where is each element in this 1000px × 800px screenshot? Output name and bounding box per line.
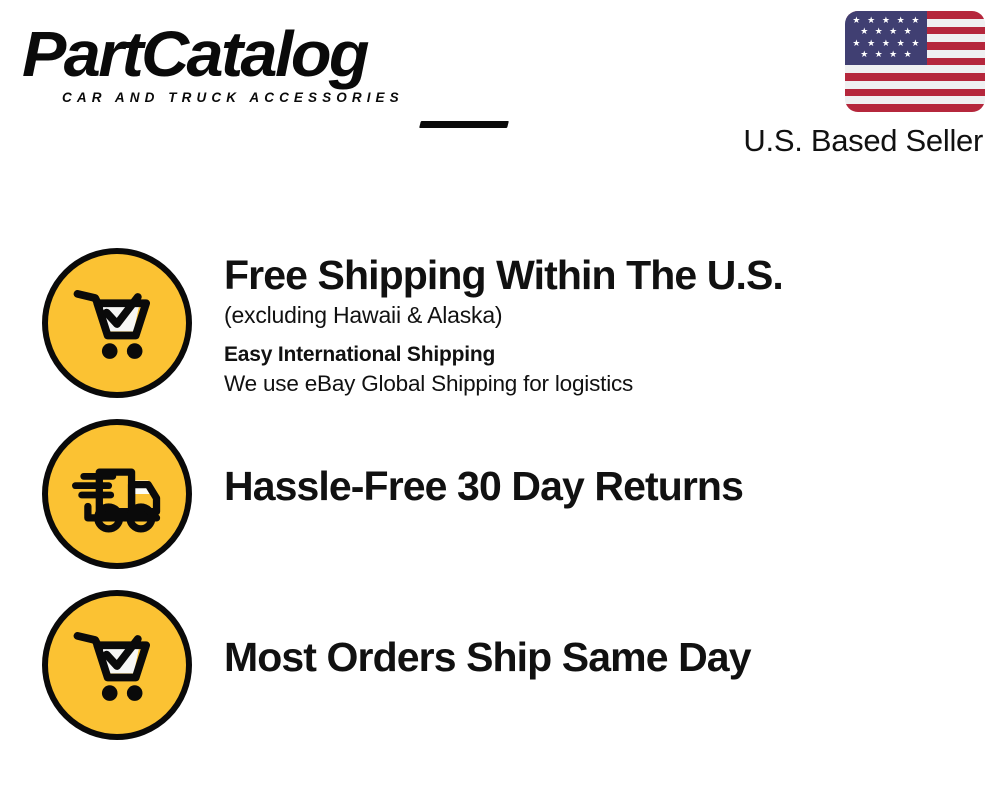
feature-text-block: Most Orders Ship Same Day [192, 590, 982, 681]
flag-star: ★ [860, 27, 868, 36]
feature-row: Most Orders Ship Same Day [42, 590, 982, 740]
us-flag-icon: ★ ★ ★ ★ ★ ★ ★ ★ ★ ★ ★ ★ [845, 11, 985, 112]
flag-star: ★ [867, 16, 875, 25]
brand-wordmark: PartCatalog [22, 22, 511, 86]
flag-star: ★ [852, 16, 860, 25]
flag-star: ★ [867, 39, 875, 48]
feature-row: Free Shipping Within The U.S. (excluding… [42, 248, 982, 399]
flag-star: ★ [897, 16, 905, 25]
flag-star: ★ [882, 16, 890, 25]
promo-banner: PartCatalog CAR AND TRUCK ACCESSORIES [0, 0, 1000, 800]
flag-canton: ★ ★ ★ ★ ★ ★ ★ ★ ★ ★ ★ ★ [845, 11, 927, 65]
feature-row: Hassle-Free 30 Day Returns [42, 419, 982, 569]
flag-star: ★ [852, 39, 860, 48]
feature-title: Free Shipping Within The U.S. [224, 252, 982, 299]
flag-star: ★ [882, 39, 890, 48]
flag-star: ★ [889, 27, 897, 36]
brand-tagline: CAR AND TRUCK ACCESSORIES [62, 90, 492, 106]
flag-star: ★ [889, 50, 897, 59]
brand-logo-swoosh [419, 121, 509, 128]
flag-star-row: ★ ★ ★ ★ ★ [845, 16, 927, 25]
feature-text-block: Free Shipping Within The U.S. (excluding… [192, 248, 982, 399]
flag-star: ★ [911, 16, 919, 25]
flag-star: ★ [911, 39, 919, 48]
flag-star: ★ [904, 27, 912, 36]
flag-star-row: ★ ★ ★ ★ ★ [845, 39, 927, 48]
flag-star: ★ [860, 50, 868, 59]
feature-subtitle: (excluding Hawaii & Alaska) [224, 300, 982, 330]
feature-title: Most Orders Ship Same Day [224, 634, 982, 681]
flag-star: ★ [904, 50, 912, 59]
flag-star-row: ★ ★ ★ ★ [845, 27, 927, 36]
feature-title: Hassle-Free 30 Day Returns [224, 463, 982, 510]
us-seller-badge: ★ ★ ★ ★ ★ ★ ★ ★ ★ ★ ★ ★ [685, 11, 985, 158]
flag-star-row: ★ ★ ★ ★ [845, 50, 927, 59]
flag-star: ★ [875, 50, 883, 59]
flag-star: ★ [897, 39, 905, 48]
feature-text-block: Hassle-Free 30 Day Returns [192, 419, 982, 510]
delivery-truck-icon [42, 419, 192, 569]
feature-detail-text: We use eBay Global Shipping for logistic… [224, 369, 982, 399]
brand-logo: PartCatalog CAR AND TRUCK ACCESSORIES [22, 22, 492, 117]
banner-header: PartCatalog CAR AND TRUCK ACCESSORIES [0, 0, 1000, 175]
flag-star: ★ [875, 27, 883, 36]
shopping-cart-check-icon [42, 590, 192, 740]
shopping-cart-check-icon [42, 248, 192, 398]
feature-detail-heading: Easy International Shipping [224, 341, 982, 369]
us-based-seller-label: U.S. Based Seller [685, 124, 985, 158]
